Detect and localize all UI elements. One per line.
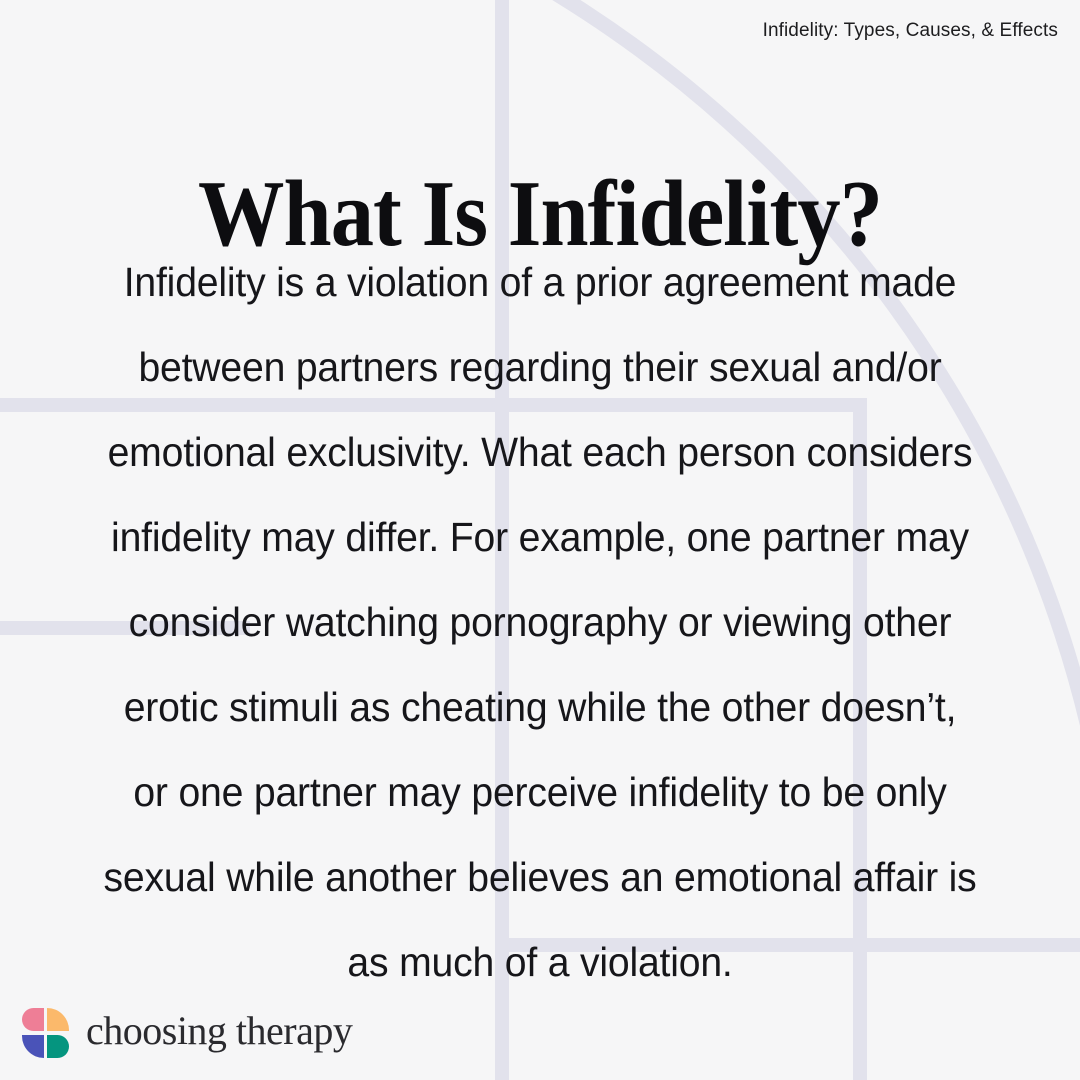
choosing-therapy-logo-icon [22, 1008, 70, 1058]
body-paragraph: Infidelity is a violation of a prior agr… [50, 240, 1030, 1005]
eyebrow-label: Infidelity: Types, Causes, & Effects [763, 20, 1058, 43]
body-line: between partners regarding their sexual … [72, 325, 1008, 410]
brand-logo[interactable]: choosing therapy [22, 1008, 352, 1058]
logo-quadrant-top-right-icon [47, 1008, 69, 1031]
body-line: sexual while another believes an emotion… [72, 835, 1008, 920]
brand-wordmark: choosing therapy [86, 1011, 352, 1055]
body-line: or one partner may perceive infidelity t… [72, 750, 1008, 835]
logo-quadrant-bottom-right-icon [47, 1035, 69, 1058]
body-line: infidelity may differ. For example, one … [72, 495, 1008, 580]
logo-quadrant-bottom-left-icon [22, 1035, 44, 1058]
body-line: Infidelity is a violation of a prior agr… [72, 240, 1008, 325]
body-line: emotional exclusivity. What each person … [72, 410, 1008, 495]
infographic-card: Infidelity: Types, Causes, & Effects Wha… [0, 0, 1080, 1080]
body-line: as much of a violation. [72, 920, 1008, 1005]
body-line: erotic stimuli as cheating while the oth… [72, 665, 1008, 750]
body-line: consider watching pornography or viewing… [72, 580, 1008, 665]
logo-quadrant-top-left-icon [22, 1008, 44, 1031]
